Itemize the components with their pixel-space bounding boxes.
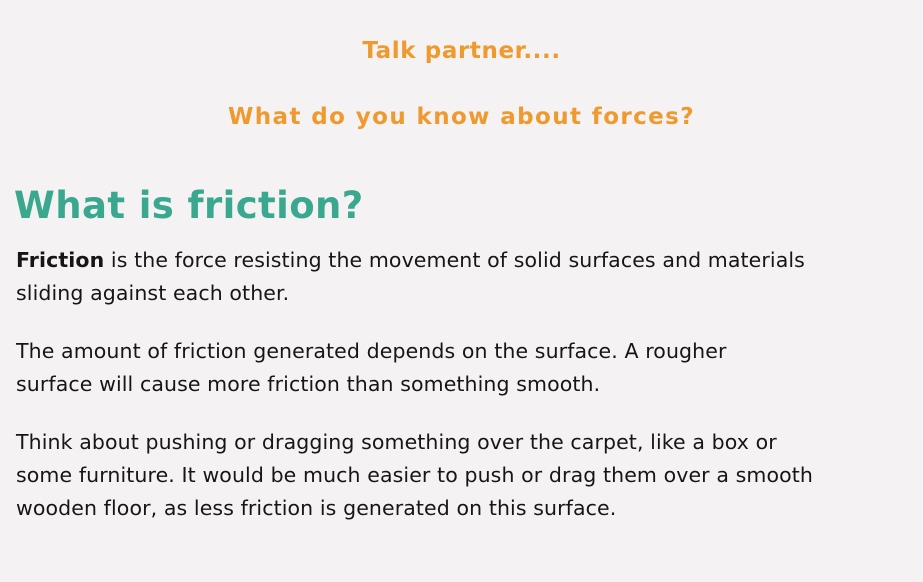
paragraph-definition-text: is the force resisting the movement of s… xyxy=(16,248,805,305)
paragraph-surface-amount: The amount of friction generated depends… xyxy=(16,335,896,401)
paragraph-carpet-example-text: Think about pushing or dragging somethin… xyxy=(16,430,813,520)
talk-partner-prompt: Talk partner.... xyxy=(0,36,923,66)
paragraph-carpet-example: Think about pushing or dragging somethin… xyxy=(16,426,896,525)
paragraph-surface-amount-text: The amount of friction generated depends… xyxy=(16,339,727,396)
page-title: What is friction? xyxy=(14,183,364,229)
paragraph-definition: Friction is the force resisting the move… xyxy=(16,244,896,310)
paragraph-lead-friction: Friction xyxy=(16,248,104,272)
forces-question-prompt: What do you know about forces? xyxy=(0,102,923,132)
friction-slide: Talk partner.... What do you know about … xyxy=(0,0,923,582)
body-content: Friction is the force resisting the move… xyxy=(16,244,896,525)
